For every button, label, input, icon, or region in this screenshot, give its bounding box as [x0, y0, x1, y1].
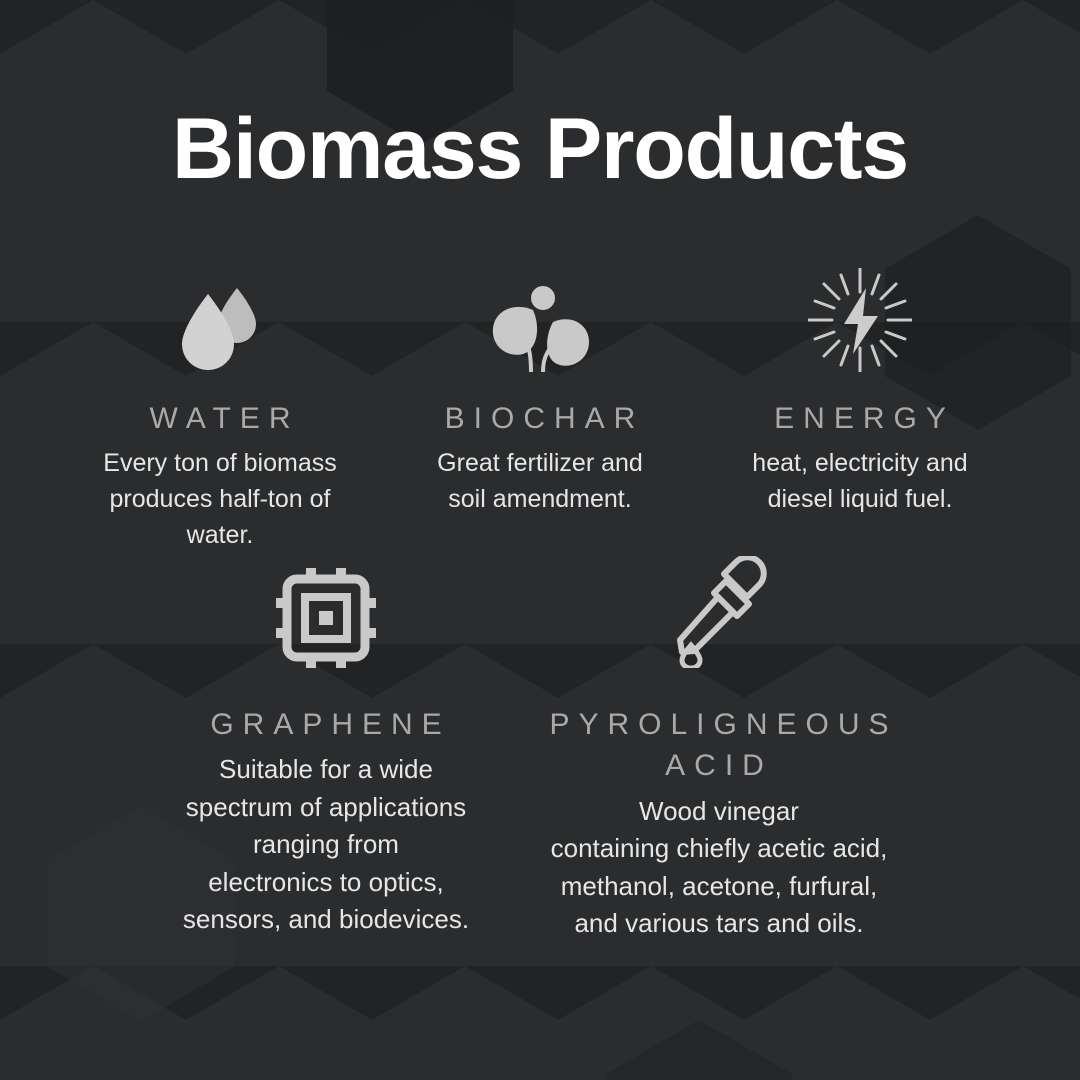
water-droplets-icon [174, 268, 266, 372]
product-description: Suitable for a wide spectrum of applicat… [183, 751, 469, 938]
product-row-top: WATER Every ton of biomass produces half… [0, 268, 1080, 553]
product-card-graphene: GRAPHENE Suitable for a wide spectrum of… [161, 552, 491, 939]
product-title: PYROLIGNEOUS ACID [540, 704, 897, 787]
microchip-icon [276, 552, 376, 668]
product-card-energy: ENERGY heat, electricity and diesel liqu… [700, 268, 1020, 517]
product-title: GRAPHENE [201, 704, 450, 745]
sprout-plant-icon [487, 268, 593, 372]
product-row-bottom: GRAPHENE Suitable for a wide spectrum of… [0, 552, 1080, 943]
lightning-burst-icon [808, 268, 912, 372]
page-title: Biomass Products [0, 104, 1080, 194]
product-title: ENERGY [765, 398, 955, 439]
product-description: Every ton of biomass produces half-ton o… [103, 445, 336, 553]
product-title: BIOCHAR [436, 398, 645, 439]
product-description: Wood vinegar containing chiefly acetic a… [551, 793, 888, 943]
product-title: WATER [141, 398, 300, 439]
product-description: heat, electricity and diesel liquid fuel… [752, 445, 967, 517]
eyedropper-icon [670, 552, 768, 668]
product-card-water: WATER Every ton of biomass produces half… [60, 268, 380, 553]
product-card-biochar: BIOCHAR Great fertilizer and soil amendm… [380, 268, 700, 517]
poster-canvas: Biomass Products WATER Every ton of biom… [0, 0, 1080, 1080]
product-card-pyroligneous-acid: PYROLIGNEOUS ACID Wood vinegar containin… [519, 552, 919, 943]
product-description: Great fertilizer and soil amendment. [437, 445, 643, 517]
